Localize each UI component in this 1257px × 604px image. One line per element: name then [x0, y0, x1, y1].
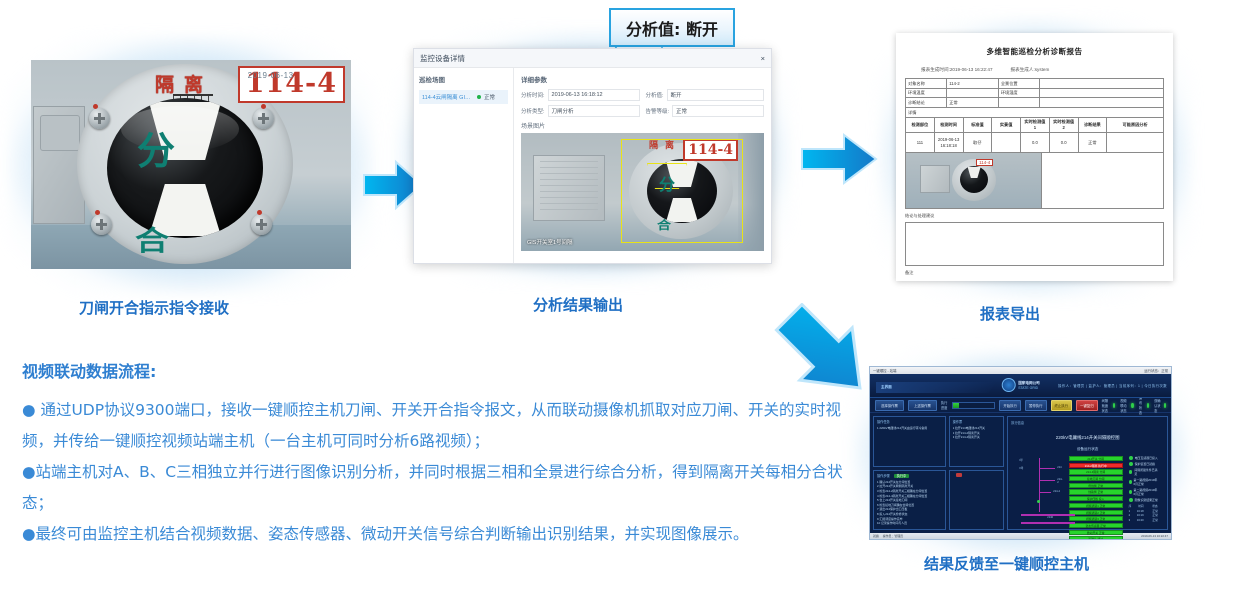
cell: 16:20 [1137, 519, 1144, 522]
col-header: 可能原因分析 [1107, 117, 1164, 132]
dashboard-window-bar: 一键顺控 - 站端 运行状态：正常 [870, 367, 1171, 374]
screw-dot-bl [95, 210, 100, 215]
info-value [1040, 98, 1164, 108]
status-dot-icon [1129, 498, 1133, 502]
analysis-report-document: 多维智能巡检分析诊断报告 报表生成时间:2019-06-13 16:22:47 … [896, 33, 1173, 281]
device-state-button[interactable]: 视频通道1 正常 [1069, 503, 1123, 508]
list-item: 图像识别结果正常 [1129, 498, 1158, 502]
report-generated-time: 报表生成时间:2019-06-13 16:22:47 [921, 67, 993, 73]
device-state-button[interactable]: 接地刀闸 分闸 [1069, 476, 1123, 481]
screw-dot-br [257, 210, 262, 215]
led-label: 通讯状态 [1139, 395, 1145, 415]
screw-top-left [89, 108, 110, 129]
info-key: 全景位置 [998, 79, 1039, 89]
report-conclusion-box [905, 222, 1164, 266]
card-operation-task: 操作任务 1 220kV电庸线214开关由运行转冷备用 [873, 416, 946, 467]
device-state-button[interactable]: 母线侧 正常 [1069, 483, 1123, 488]
info-value [1040, 88, 1164, 98]
cell: 正常 [1078, 133, 1107, 153]
dialog-title: 监控设备详情 [420, 53, 465, 64]
info-value: 正常 [947, 98, 999, 108]
analysis-value-callout: 分析值: 断开 [609, 8, 735, 47]
field-analysis-value: 分析值: 断开 [646, 89, 765, 101]
cell: 正常 [1152, 514, 1157, 517]
sequence-control-dashboard[interactable]: 一键顺控 - 站端 运行状态：正常 主界面 国家电网公司 STATE GRID … [869, 366, 1172, 540]
col-header: 实时检测值 2 [1049, 117, 1078, 132]
scene-open-char: 分 [659, 171, 675, 195]
grid-logo-icon [1001, 378, 1015, 392]
device-state-button[interactable]: 214开关 分闸 [1069, 456, 1123, 461]
alarm-badge [956, 473, 962, 477]
sld-label-3: 214 [1057, 466, 1061, 469]
status-led-group: 间隔就绪状态 视频联动状态 通讯状态 双确认状态 [1102, 395, 1166, 415]
led-video-link: 视频联动状态 [1120, 398, 1134, 413]
card-title: 操作票 [953, 419, 1001, 424]
caption-dashboard: 结果反馈至一键顺控主机 [924, 553, 1089, 574]
task-line: 1 220kV电庸线214开关由运行转冷备用 [877, 426, 942, 431]
dialog-params-panel: 详细参数 分析时间: 2019-06-13 16:18:12 分析值: 断开 分… [514, 68, 771, 264]
status-dot-icon [1129, 490, 1132, 494]
screw-top-right [253, 108, 274, 129]
diagram-status-column: 电压互感器已投入 保护装置已就绪 间隔闭锁条件已满足 第一路视频2019年6月正… [1129, 456, 1158, 540]
isolation-red-label: 隔离 [155, 70, 213, 97]
params-header: 详细参数 [521, 74, 764, 84]
dialog-titlebar: 监控设备详情 × [414, 49, 771, 68]
status-list: 电压互感器已投入 保护装置已就绪 间隔闭锁条件已满足 第一路视频2019年6月正… [1129, 456, 1158, 502]
arrow-dialog-to-report [800, 130, 878, 188]
device-detail-dialog[interactable]: 监控设备详情 × 巡检场图 114-4云闸隔离 GIS开关... 正常 详细参数… [413, 48, 772, 264]
brand-logo: 国家电网公司 STATE GRID [1001, 378, 1040, 392]
device-state-button[interactable]: 姿态传感器 正常 [1069, 523, 1123, 528]
scene-image-label: 场景图片 [521, 121, 764, 130]
cell: 取仔 [963, 133, 992, 153]
led-comm: 通讯状态 [1139, 395, 1149, 415]
field-value[interactable]: 刀闸分析 [548, 105, 640, 117]
device-state-button[interactable]: 214-4隔离 分闸 [1069, 469, 1123, 474]
cell: 16:19 [1137, 514, 1144, 517]
col-header: 实时检测值 1 [1021, 117, 1050, 132]
info-key: 对象名称 [906, 79, 947, 89]
col-header: 序 [1129, 505, 1132, 508]
dashboard-mid-column: 操作票 1 拉开214电庸线214开关 2 拉开214-2隔离开关 3 拉开21… [949, 416, 1005, 530]
table-header-row: 序 时间 状态 [1129, 505, 1158, 510]
info-key [998, 98, 1039, 108]
scene-image: 隔离 分 合 114-4 GIS开关室1号间隔 [521, 133, 764, 251]
sld-bus-2 [1021, 522, 1075, 524]
indicator-dome [107, 98, 263, 238]
field-label: 告警等级: [646, 107, 670, 115]
cell: 111 [906, 133, 935, 153]
led-label: 双确认状态 [1154, 398, 1162, 413]
detection-box-outer [621, 139, 743, 243]
device-state-button-list: 214开关 分闸 214-2隔离 执行中 214-4隔离 分闸 接地刀闸 分闸 … [1069, 456, 1123, 540]
card-title: 操作任务 [877, 419, 942, 424]
thumb-tag: 114-4 [976, 159, 993, 166]
caption-photo: 刀闸开合指示指令接收 [79, 297, 229, 318]
cell: 2019-06-13 16:18:18 [934, 133, 963, 153]
table-row: 诊断结论 正常 [906, 98, 1164, 108]
info-value: 114-2 [947, 79, 999, 89]
screw-dot-tl [93, 104, 98, 109]
col-header: 检测时间 [934, 117, 963, 132]
list-item: 10 记录操作时间与人员 [877, 521, 942, 526]
cell: 2 [1129, 514, 1131, 517]
status-mini-table: 序 时间 状态 1 16:18 正常 2 16:19 [1129, 505, 1158, 523]
device-list-item[interactable]: 114-4云闸隔离 GIS开关... 正常 [419, 90, 508, 104]
pause-execute-button[interactable]: 暂停执行 [1025, 400, 1047, 411]
info-key: 诊断结论 [906, 98, 947, 108]
status-text: 间隔闭锁条件已满足 [1134, 468, 1158, 476]
led-icon [1131, 403, 1133, 408]
flow-item-2: ●站端主机对A、B、C三相独立并行进行图像识别分析，并同时根据三相和全景进行综合… [22, 457, 852, 519]
flow-heading: 视频联动数据流程: [22, 358, 852, 382]
diagram-subtitle: 设备运行状态 [1011, 447, 1164, 452]
card-title: 操作步骤 执行中 [877, 473, 942, 478]
status-dot-icon [1129, 462, 1133, 466]
flow-item-1: ● 通过UDP协议9300端口，接收一键顺控主机刀闸、开关开合指令报文，从而联动… [22, 395, 852, 457]
list-item: 第二路视频2019年6月正常 [1129, 488, 1158, 496]
status-text: 保护装置已就绪 [1135, 462, 1155, 466]
info-key: 环境温度 [906, 88, 947, 98]
cell: 正常 [1152, 519, 1157, 522]
device-state-button[interactable]: 线路侧 正常 [1069, 489, 1123, 494]
diagram-title: 220kV电庸线214开关间隔顺控图 [1011, 435, 1164, 441]
card-operation-ticket: 操作票 1 拉开214电庸线214开关 2 拉开214-2隔离开关 3 拉开21… [949, 416, 1005, 467]
caption-dialog: 分析结果输出 [533, 294, 623, 315]
tag-date: 2019-06-13 [248, 71, 294, 80]
screw-bottom-left [91, 214, 112, 235]
report-detail-table: 检测部位 检测时间 标准值 实景值 实时检测值 1 实时检测值 2 诊断结果 可… [905, 117, 1164, 153]
callout-text: 分析值: 断开 [626, 16, 718, 40]
device-state-button[interactable]: 双确认 通过 [1069, 536, 1123, 540]
progress-fill [953, 403, 959, 408]
report-thumbnail-blank [1042, 153, 1164, 209]
led-label: 视频联动状态 [1120, 398, 1129, 413]
report-generated-by: 报表生成人:system [1011, 67, 1050, 73]
sld-branch-2 [1039, 480, 1055, 481]
window-status: 运行状态：正常 [1144, 368, 1168, 373]
scene-caption: GIS开关室1号间隔 [527, 238, 573, 246]
cell [1107, 133, 1164, 153]
open-state-char: 分 [137, 120, 175, 175]
field-label: 分析时间: [521, 91, 545, 99]
col-header: 实景值 [992, 117, 1021, 132]
led-icon [1113, 403, 1115, 408]
col-header: 诊断结果 [1078, 117, 1107, 132]
cell: 1 [1129, 510, 1131, 513]
dashboard-main: 操作任务 1 220kV电庸线214开关由运行转冷备用 操作步骤 执行中 1 确… [870, 413, 1171, 533]
status-text: 第一路视频2019年6月正常 [1134, 478, 1158, 486]
report-remark-label: 备注 [905, 270, 1164, 276]
brand-cn: 国家电网公司 [1018, 381, 1040, 386]
disconnector-indicator-photo: 隔离 分 合 2019-06-13 114-4 [31, 60, 351, 269]
close-state-char: 合 [135, 219, 169, 258]
select-ticket-button[interactable]: 选择操作票 [875, 400, 904, 411]
thumb-dome-white [968, 167, 981, 178]
dashboard-toolbar: 选择操作票 上送操作票 执行进度 开始执行 暂停执行 终止执行 一键复归 间隔就… [870, 398, 1171, 413]
brand-en: STATE GRID [1018, 386, 1040, 390]
screw-bottom-right [251, 214, 272, 235]
col-header: 时间 [1138, 505, 1143, 508]
cell: 16:18 [1137, 510, 1144, 513]
device-state-button[interactable]: 微动开关 正常 [1069, 530, 1123, 535]
scene-nameplate [533, 155, 605, 221]
report-meta: 报表生成时间:2019-06-13 16:22:47 报表生成人:system [921, 67, 1164, 73]
device-status: 正常 [484, 93, 495, 101]
status-dot-icon [1129, 480, 1132, 484]
sld-branch-1 [1039, 468, 1055, 469]
progress-label: 执行进度 [941, 400, 948, 410]
field-label: 分析值: [646, 91, 664, 99]
thumb-nameplate [920, 165, 950, 193]
cell [992, 133, 1021, 153]
field-value[interactable]: 断开 [667, 89, 764, 101]
card-abnormal-info [949, 470, 1005, 530]
table-row: 对象名称 114-2 全景位置 [906, 79, 1164, 89]
dashboard-left-column: 操作任务 1 220kV电庸线214开关由运行转冷备用 操作步骤 执行中 1 确… [873, 416, 946, 530]
card-title [953, 473, 1001, 477]
table-row: 环境温度 环境湿度 [906, 88, 1164, 98]
sld-label-5: 214-4 [1053, 490, 1060, 493]
table-row: 111 2019-06-13 16:18:18 取仔 0.0 0.0 正常 [906, 133, 1164, 153]
list-item: 保护装置已就绪 [1129, 462, 1158, 466]
execution-progress-bar [952, 402, 995, 409]
dialog-body: 巡检场图 114-4云闸隔离 GIS开关... 正常 详细参数 分析时间: 20… [414, 68, 771, 264]
header-label: 主界面 [881, 382, 996, 393]
field-alarm-level: 告警等级: 正常 [646, 105, 765, 117]
dashboard-header: 主界面 国家电网公司 STATE GRID 操作人：管理员 | 监护人：管理员 … [870, 374, 1171, 398]
status-badge: 执行中 [894, 474, 910, 478]
field-analysis-type: 分析类型: 刀闸分析 [521, 105, 640, 117]
cell: 正常 [1152, 510, 1157, 513]
report-title: 多维智能巡检分析诊断报告 [905, 46, 1164, 57]
sld-label-2: II母 [1019, 466, 1023, 470]
led-label: 间隔就绪状态 [1102, 398, 1111, 413]
reset-button[interactable]: 一键复归 [1076, 400, 1098, 411]
single-line-diagram: I母 II母 214 214-2 214-4 2140 [1017, 456, 1062, 528]
card-title-text: 操作步骤 [877, 474, 890, 478]
status-text: 电压互感器已投入 [1135, 456, 1158, 460]
device-state-button[interactable]: 视频通道3 正常 [1069, 516, 1123, 521]
report-info-table: 对象名称 114-2 全景位置 环境温度 环境湿度 诊断结论 正常 详情 [905, 78, 1164, 118]
list-item: 电压互感器已投入 [1129, 456, 1158, 460]
report-conclusion-label: 结论与处理建议 [905, 213, 1164, 219]
led-icon [1164, 403, 1166, 408]
sld-label-1: I母 [1019, 458, 1022, 462]
sld-label-6: 2140 [1047, 516, 1053, 519]
table-header-row: 检测部位 检测时间 标准值 实景值 实时检测值 1 实时检测值 2 诊断结果 可… [906, 117, 1164, 132]
info-value [1040, 79, 1164, 89]
status-operator: 操作员：管理员 [883, 534, 903, 538]
led-icon [1147, 403, 1149, 408]
start-execute-button[interactable]: 开始执行 [999, 400, 1021, 411]
thumb-dome [960, 166, 988, 193]
cell: 0.0 [1049, 133, 1078, 153]
stop-execute-button[interactable]: 终止执行 [1051, 400, 1073, 411]
upload-ticket-button[interactable]: 上送操作票 [908, 400, 937, 411]
card-operation-steps: 操作步骤 执行中 1 确认214开关在分闸位置 2 拉开214开关两侧隔离开关 … [873, 470, 946, 530]
list-item: 第一路视频2019年6月正常 [1129, 478, 1158, 486]
table-row: 3 16:20 正常 [1129, 519, 1158, 524]
dialog-device-panel: 巡检场图 114-4云闸隔离 GIS开关... 正常 [414, 68, 514, 264]
flow-item-3: ●最终可由监控主机结合视频数据、姿态传感器、微动开关信号综合判断输出识别结果，并… [22, 519, 852, 550]
field-label: 分析类型: [521, 107, 545, 115]
caption-report: 报表导出 [980, 303, 1040, 324]
header-menu[interactable]: 操作人：管理员 | 监护人：管理员 | 当前序列：1 | 今日执行次数 [1058, 383, 1167, 388]
sld-label-4: 214-2 [1057, 478, 1062, 484]
col-header: 标准值 [963, 117, 992, 132]
status-ready: 就绪 [873, 534, 879, 538]
status-text: 第二路视频2019年6月正常 [1134, 488, 1158, 496]
cell: 3 [1129, 519, 1131, 522]
sld-main-vertical [1039, 458, 1040, 512]
led-interval-ready: 间隔就绪状态 [1102, 398, 1116, 413]
info-key: 环境湿度 [998, 88, 1039, 98]
status-dot-icon [1129, 470, 1133, 474]
info-value [947, 88, 999, 98]
params-row-1: 分析时间: 2019-06-13 16:18:12 分析值: 断开 [521, 89, 764, 101]
screw-dot-tr [261, 104, 266, 109]
params-row-2: 分析类型: 刀闸分析 告警等级: 正常 [521, 105, 764, 117]
close-icon[interactable]: × [761, 54, 765, 63]
sld-branch-3 [1039, 492, 1051, 493]
field-value[interactable]: 2019-06-13 16:18:12 [548, 89, 640, 101]
field-analysis-time: 分析时间: 2019-06-13 16:18:12 [521, 89, 640, 101]
device-panel-header: 巡检场图 [419, 74, 508, 84]
scene-close-char: 合 [657, 217, 671, 233]
card-interval-diagram: 执行信息 220kV电庸线214开关间隔顺控图 设备运行状态 I母 II母 [1007, 416, 1168, 530]
status-dot-icon [1129, 456, 1133, 460]
flow-description: 视频联动数据流程: ● 通过UDP协议9300端口，接收一键顺控主机刀闸、开关开… [22, 358, 852, 550]
device-state-button[interactable]: 保护压板 投入 [1069, 496, 1123, 501]
list-item: 3 拉开214-4隔离开关 [953, 435, 1001, 440]
status-text: 图像识别结果正常 [1135, 498, 1158, 502]
led-double-confirm: 双确认状态 [1154, 398, 1166, 413]
equipment-tag: 2019-06-13 114-4 [238, 66, 345, 103]
field-value[interactable]: 正常 [672, 105, 764, 117]
header-label-shape: 主界面 [876, 382, 996, 393]
device-state-button-active[interactable]: 214-2隔离 执行中 [1069, 463, 1123, 468]
report-scene-thumbnail: 114-4 [905, 153, 1042, 209]
col-header: 状态 [1152, 505, 1157, 508]
device-name: 114-4云闸隔离 GIS开关... [422, 93, 474, 101]
diagram-wrap: I母 II母 214 214-2 214-4 2140 214开关 分闸 214… [1011, 456, 1164, 540]
window-title: 一键顺控 - 站端 [873, 368, 896, 373]
slide-root: 隔离 分 合 2019-06-13 114-4 刀 [0, 0, 1257, 604]
list-item: 间隔闭锁条件已满足 [1129, 468, 1158, 476]
col-header: 检测部位 [906, 117, 935, 132]
status-dot-icon [477, 95, 481, 99]
cell: 0.0 [1021, 133, 1050, 153]
card-title: 执行信息 [1011, 420, 1164, 425]
device-state-button[interactable]: 视频通道2 正常 [1069, 510, 1123, 515]
